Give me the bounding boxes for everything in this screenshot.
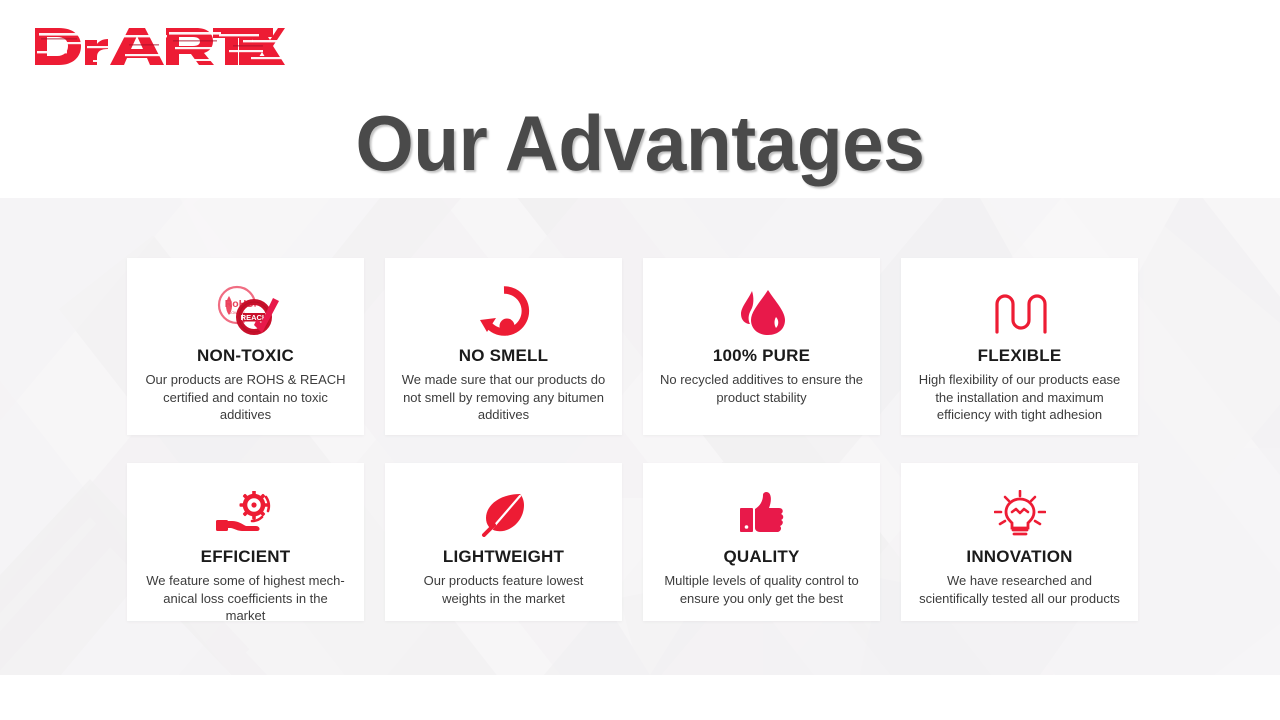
advantages-page: Our Advantages xyxy=(0,0,1280,720)
no-smell-icon xyxy=(399,284,608,340)
flexible-wave-icon xyxy=(915,284,1124,340)
card-title: NON-TOXIC xyxy=(141,346,350,366)
card-description: We feature some of highest mech-anical l… xyxy=(141,572,350,625)
rohs-reach-badge-icon: RoHS COMPLIANT REACH xyxy=(141,284,350,340)
card-description: Multiple levels of quality control to en… xyxy=(657,572,866,607)
water-drops-icon xyxy=(657,284,866,340)
hand-gear-icon xyxy=(141,489,350,539)
card-title: INNOVATION xyxy=(915,547,1124,567)
card-title: NO SMELL xyxy=(399,346,608,366)
card-description: High flexibility of our products ease th… xyxy=(915,371,1124,424)
card-title: FLEXIBLE xyxy=(915,346,1124,366)
page-header: Our Advantages xyxy=(0,0,1280,198)
advantage-card-innovation[interactable]: INNOVATION We have researched and scient… xyxy=(901,463,1138,621)
advantage-card-quality[interactable]: QUALITY Multiple levels of quality contr… xyxy=(643,463,880,621)
card-title: 100% PURE xyxy=(657,346,866,366)
card-description: Our products are ROHS & REACH certified … xyxy=(141,371,350,424)
card-description: No recycled additives to ensure the prod… xyxy=(657,371,866,406)
card-description: We have researched and scientifically te… xyxy=(915,572,1124,607)
advantage-card-lightweight[interactable]: LIGHTWEIGHT Our products feature lowest … xyxy=(385,463,622,621)
advantage-card-no-smell[interactable]: NO SMELL We made sure that our products … xyxy=(385,258,622,435)
card-description: We made sure that our products do not sm… xyxy=(399,371,608,424)
card-description: Our products feature lowest weights in t… xyxy=(399,572,608,607)
page-title: Our Advantages xyxy=(26,101,1255,185)
advantage-card-efficient[interactable]: EFFICIENT We feature some of highest mec… xyxy=(127,463,364,621)
thumbs-up-icon xyxy=(657,489,866,539)
advantages-grid: RoHS COMPLIANT REACH NON-TOXIC Our produ… xyxy=(127,258,1139,621)
advantage-card-non-toxic[interactable]: RoHS COMPLIANT REACH NON-TOXIC Our produ… xyxy=(127,258,364,435)
lightbulb-idea-icon xyxy=(915,489,1124,539)
drartex-logo-icon xyxy=(33,24,285,70)
advantage-card-flexible[interactable]: FLEXIBLE High flexibility of our product… xyxy=(901,258,1138,435)
footer-white-area xyxy=(0,675,1280,720)
card-title: QUALITY xyxy=(657,547,866,567)
card-title: EFFICIENT xyxy=(141,547,350,567)
drartex-logo xyxy=(33,24,285,70)
leaf-icon xyxy=(399,489,608,539)
advantage-card-pure[interactable]: 100% PURE No recycled additives to ensur… xyxy=(643,258,880,435)
card-title: LIGHTWEIGHT xyxy=(399,547,608,567)
